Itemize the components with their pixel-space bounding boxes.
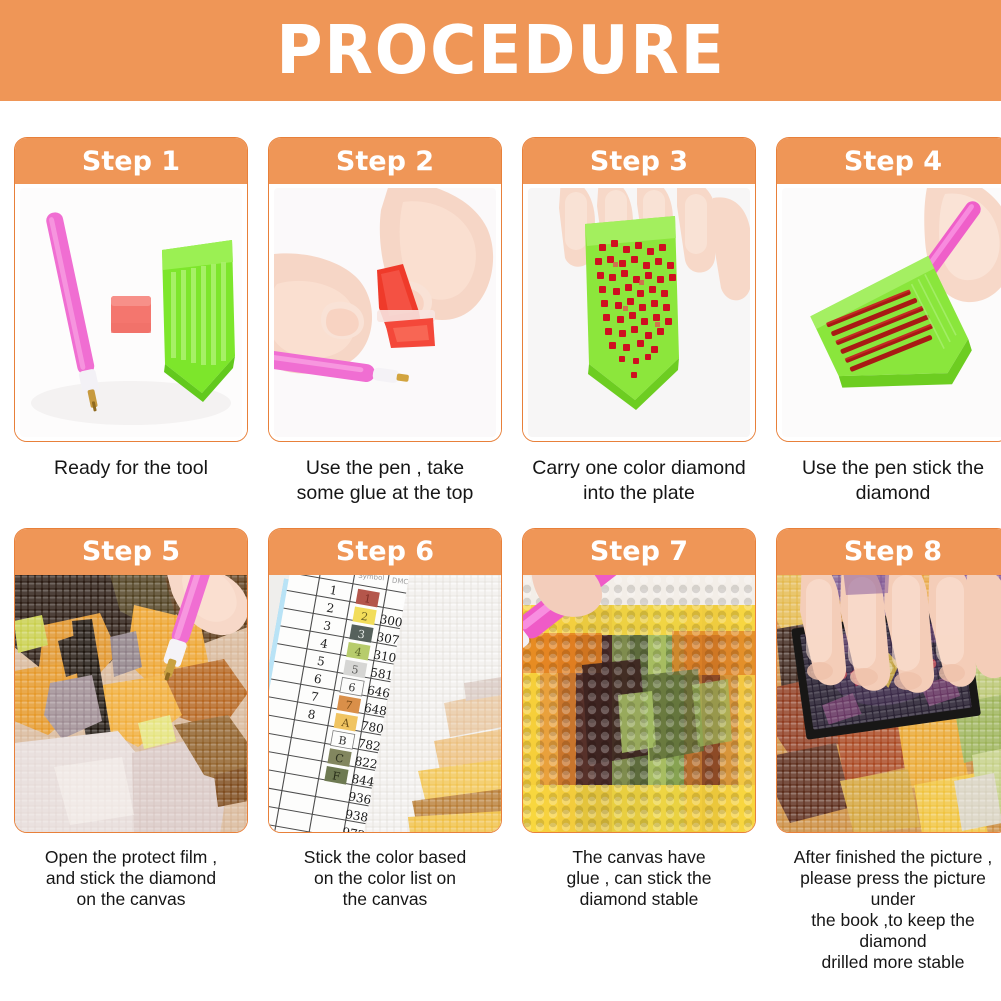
step-header-label-1: Step 1 bbox=[82, 148, 180, 175]
step-header-label-6: Step 6 bbox=[336, 538, 434, 565]
step-caption-4: Use the pen stick the diamond bbox=[776, 456, 1001, 506]
step-card-6[interactable]: Step 6 bbox=[268, 528, 502, 833]
step-caption-5: Open the protect film , and stick the di… bbox=[14, 847, 248, 910]
step-body-4 bbox=[777, 184, 1001, 442]
svg-text:DMC: DMC bbox=[392, 576, 409, 586]
step-card-1[interactable]: Step 1 bbox=[14, 137, 248, 442]
step-caption-7: The canvas have glue , can stick the dia… bbox=[522, 847, 756, 910]
step-header-8: Step 8 bbox=[777, 529, 1001, 575]
step-header-6: Step 6 bbox=[269, 529, 501, 575]
steps-row-2: Step 5 bbox=[0, 528, 1001, 973]
step-cell-4: Step 4 bbox=[776, 137, 1001, 506]
step-cell-8: Step 8 bbox=[776, 528, 1001, 973]
step-cell-5: Step 5 bbox=[14, 528, 248, 973]
canvas-sunflower-diamonds-photo bbox=[15, 575, 247, 833]
step-card-4[interactable]: Step 4 bbox=[776, 137, 1001, 442]
step-header-2: Step 2 bbox=[269, 138, 501, 184]
step-cell-7: Step 7 bbox=[522, 528, 756, 973]
steps-grid: Step 1 bbox=[0, 101, 1001, 973]
step-header-label-3: Step 3 bbox=[590, 148, 688, 175]
tools-pen-glue-tray-photo bbox=[20, 188, 242, 437]
step-cell-6: Step 6 bbox=[268, 528, 502, 973]
step-body-2 bbox=[269, 184, 501, 442]
step-header-4: Step 4 bbox=[777, 138, 1001, 184]
step-header-7: Step 7 bbox=[523, 529, 755, 575]
step-body-8 bbox=[777, 575, 1001, 833]
step-card-3[interactable]: Step 3 bbox=[522, 137, 756, 442]
step-body-5 bbox=[15, 575, 247, 833]
step-card-5[interactable]: Step 5 bbox=[14, 528, 248, 833]
step-caption-1: Ready for the tool bbox=[14, 456, 248, 481]
hands-pressing-book-on-canvas-photo bbox=[777, 575, 1001, 833]
page-title: PROCEDURE bbox=[276, 17, 725, 84]
step-body-7 bbox=[523, 575, 755, 833]
step-card-2[interactable]: Step 2 bbox=[268, 137, 502, 442]
step-cell-3: Step 3 bbox=[522, 137, 756, 506]
step-caption-3: Carry one color diamond into the plate bbox=[522, 456, 756, 506]
step-body-1 bbox=[15, 184, 247, 442]
page-banner: PROCEDURE bbox=[0, 0, 1001, 101]
step-caption-6: Stick the color based on the color list … bbox=[268, 847, 502, 910]
step-caption-2: Use the pen , take some glue at the top bbox=[268, 456, 502, 506]
procedure-infographic: PROCEDURE Step 1 bbox=[0, 0, 1001, 1001]
step-caption-8: After finished the picture , please pres… bbox=[776, 847, 1001, 973]
step-header-label-7: Step 7 bbox=[590, 538, 688, 565]
pen-picking-diamonds-in-tray-photo bbox=[782, 188, 1001, 437]
step-header-label-5: Step 5 bbox=[82, 538, 180, 565]
color-chart-table-photo: Serial Symbol DMC 1 2 3 bbox=[269, 575, 501, 833]
step-header-label-2: Step 2 bbox=[336, 148, 434, 175]
green-tray-red-diamonds-photo bbox=[528, 188, 750, 437]
step-card-7[interactable]: Step 7 bbox=[522, 528, 756, 833]
step-header-1: Step 1 bbox=[15, 138, 247, 184]
step-body-6: Serial Symbol DMC 1 2 3 bbox=[269, 575, 501, 833]
step-header-label-4: Step 4 bbox=[844, 148, 942, 175]
step-cell-1: Step 1 bbox=[14, 137, 248, 506]
step-header-3: Step 3 bbox=[523, 138, 755, 184]
step-body-3 bbox=[523, 184, 755, 442]
pen-on-round-drills-photo bbox=[523, 575, 755, 833]
hands-pen-dipping-wax-photo bbox=[274, 188, 496, 437]
steps-row-1: Step 1 bbox=[0, 137, 1001, 506]
step-header-label-8: Step 8 bbox=[844, 538, 942, 565]
step-header-5: Step 5 bbox=[15, 529, 247, 575]
step-card-8[interactable]: Step 8 bbox=[776, 528, 1001, 833]
step-cell-2: Step 2 bbox=[268, 137, 502, 506]
